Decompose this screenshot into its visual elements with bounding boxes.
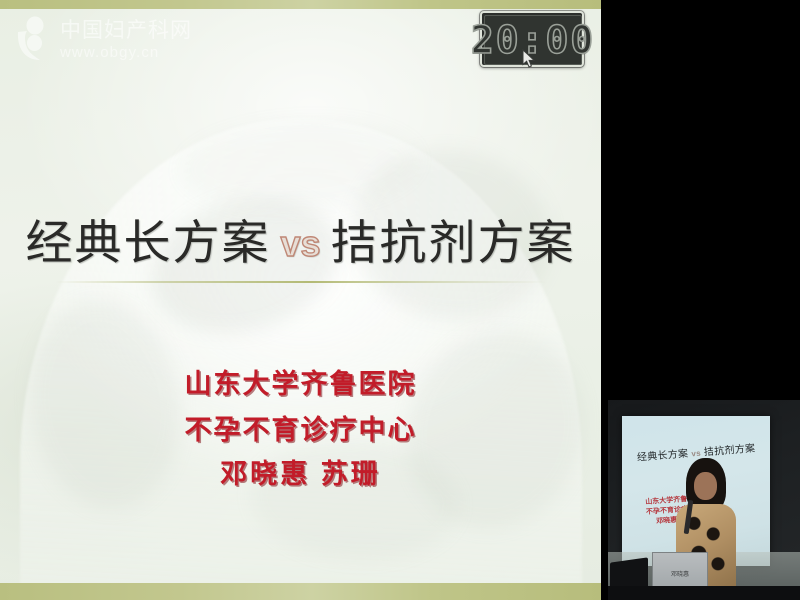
slide-text-content: 经典长方案vs拮抗剂方案 山东大学齐鲁医院 不孕不育诊疗中心 邓晓惠 苏珊	[0, 0, 601, 600]
slide-title-vs: vs	[280, 223, 320, 264]
slide-title-right: 拮抗剂方案	[331, 216, 576, 269]
pip-table	[608, 586, 800, 600]
slide-subtitle-institution: 山东大学齐鲁医院	[0, 362, 601, 401]
slide-title-divider	[55, 281, 547, 283]
countdown-timer[interactable]: 20:00	[480, 11, 584, 67]
countdown-timer-bezel: 20:00	[484, 15, 582, 65]
pip-title-vs: vs	[691, 449, 701, 459]
speaker-camera-feed[interactable]: 经典长方案 vs 拮抗剂方案 山东大学齐鲁医院 不孕不育诊疗中心 邓晓惠 苏珊	[608, 400, 800, 600]
video-player-viewer[interactable]: 中国妇产科网 www.obgy.cn 20:00 经典长方案vs拮抗剂方案 山东…	[0, 0, 800, 600]
slide-subtitle-presenters: 邓晓惠 苏珊	[0, 452, 601, 491]
watermark-text: 中国妇产科网 www.obgy.cn	[60, 20, 192, 60]
slide-subtitle-department: 不孕不育诊疗中心	[0, 408, 601, 447]
mother-and-baby-logo-icon	[14, 16, 54, 64]
slide-bottom-trim-bar	[0, 583, 601, 600]
watermark-url: www.obgy.cn	[60, 45, 192, 60]
pip-podium-nameplate: 邓晓惠	[659, 569, 701, 578]
watermark-title: 中国妇产科网	[60, 20, 192, 41]
slide-title-left: 经典长方案	[25, 216, 270, 269]
site-watermark: 中国妇产科网 www.obgy.cn	[14, 16, 192, 64]
stage-black-panel: 经典长方案 vs 拮抗剂方案 山东大学齐鲁医院 不孕不育诊疗中心 邓晓惠 苏珊	[601, 0, 800, 600]
presentation-slide[interactable]: 中国妇产科网 www.obgy.cn 20:00 经典长方案vs拮抗剂方案 山东…	[0, 0, 601, 600]
slide-title: 经典长方案vs拮抗剂方案	[0, 204, 601, 273]
slide-top-trim-bar	[0, 0, 601, 9]
pip-speaker-face	[694, 472, 717, 500]
countdown-timer-value: 20:00	[471, 21, 595, 59]
pip-title-right: 拮抗剂方案	[704, 443, 756, 458]
